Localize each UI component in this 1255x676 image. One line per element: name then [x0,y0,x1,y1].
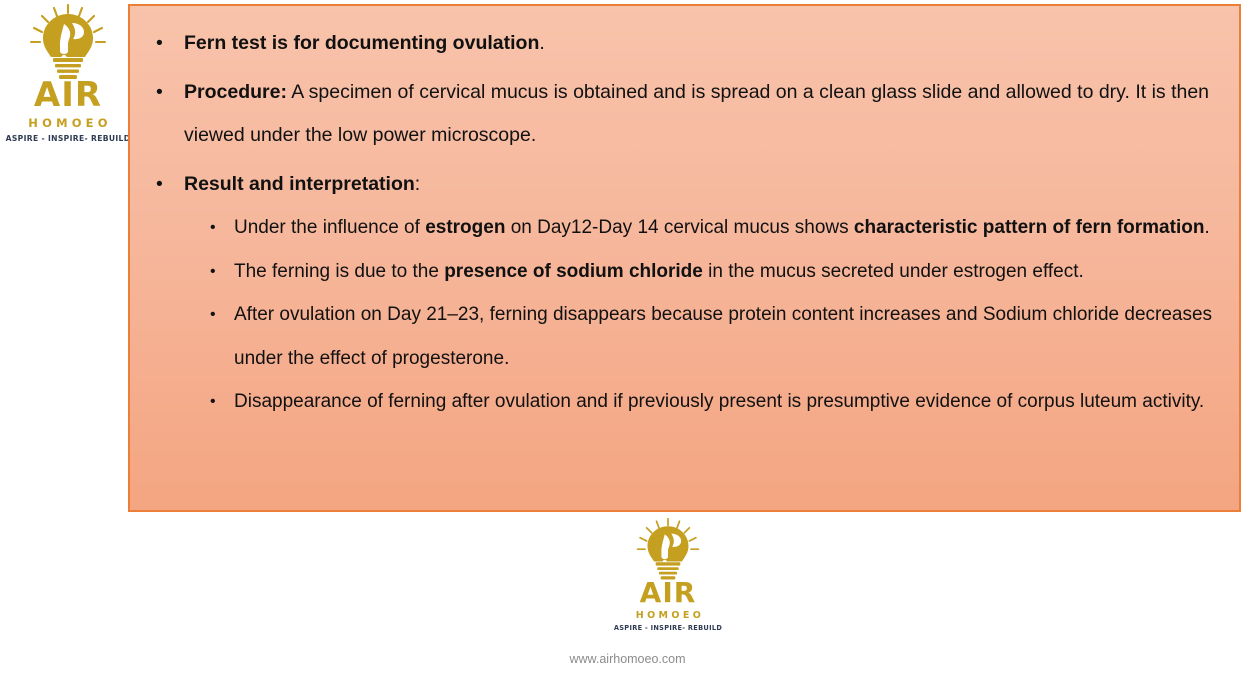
bullet-text: Procedure: A specimen of cervical mucus … [184,81,1209,146]
bullet-dot-icon: • [210,380,216,424]
bullet-text-plain: : [415,173,420,195]
bullet-text-bold: Result and interpretation [184,173,415,195]
bullet-text: The ferning is due to the presence of so… [234,261,1084,282]
bullet-dot-icon: • [156,22,163,65]
bullet-dot-icon: • [210,293,216,337]
brand-tagline: ASPIRE - INSPIRE- REBUILD [6,134,131,143]
brand-wordmark: AIR [640,579,697,607]
bullet-item: •Procedure: A specimen of cervical mucus… [144,71,1221,157]
bullet-dot-icon: • [156,71,163,114]
sub-bullet-item: •Under the influence of estrogen on Day1… [184,206,1221,250]
brand-tagline: ASPIRE - INSPIRE- REBUILD [614,624,722,632]
bullet-text-plain: . [539,32,544,54]
brand-subtitle: HOMOEO [636,610,705,621]
bullet-text: Fern test is for documenting ovulation. [184,32,545,54]
bullet-text-bold: Procedure: [184,81,287,103]
bullet-text: Under the influence of estrogen on Day12… [234,217,1210,238]
footer-website-url: www.airhomoeo.com [0,652,1255,666]
bullet-dot-icon: • [210,206,216,250]
sub-bullet-item: •Disappearance of ferning after ovulatio… [184,380,1221,424]
bullet-list: •Fern test is for documenting ovulation.… [144,22,1221,424]
bullet-text-plain: The ferning is due to the [234,261,444,282]
bullet-text-plain: A specimen of cervical mucus is obtained… [184,81,1209,146]
brand-subtitle: HOMOEO [28,116,111,130]
sub-bullet-item: •After ovulation on Day 21–23, ferning d… [184,293,1221,380]
bullet-text-plain: . [1204,217,1209,238]
bullet-text-bold: estrogen [425,217,505,238]
bullet-text-bold: Fern test is for documenting ovulation [184,32,539,54]
bullet-text-plain: in the mucus secreted under estrogen eff… [703,261,1084,282]
bullet-item: •Result and interpretation:•Under the in… [144,163,1221,424]
sub-bullet-item: •The ferning is due to the presence of s… [184,250,1221,294]
bullet-text: Result and interpretation: [184,173,420,195]
sub-bullet-list: •Under the influence of estrogen on Day1… [184,206,1221,424]
bullet-text-plain: After ovulation on Day 21–23, ferning di… [234,304,1212,369]
lightbulb-icon [631,518,705,582]
bullet-text-plain: Disappearance of ferning after ovulation… [234,391,1204,412]
bullet-text-plain: on Day12-Day 14 cervical mucus shows [505,217,853,238]
bullet-dot-icon: • [156,163,163,206]
brand-logo-footer: AIR HOMOEO ASPIRE - INSPIRE- REBUILD [604,518,732,630]
bullet-text-bold: presence of sodium chloride [444,261,703,282]
bullet-text-bold: characteristic pattern of fern formation [854,217,1205,238]
lightbulb-icon [23,4,113,82]
bullet-text: After ovulation on Day 21–23, ferning di… [234,304,1212,369]
bullet-item: •Fern test is for documenting ovulation. [144,22,1221,65]
brand-wordmark: AIR [34,78,102,112]
content-panel: •Fern test is for documenting ovulation.… [128,4,1241,512]
bullet-dot-icon: • [210,250,216,294]
brand-logo-top: AIR HOMOEO ASPIRE - INSPIRE- REBUILD [8,4,128,136]
bullet-text: Disappearance of ferning after ovulation… [234,391,1204,412]
bullet-text-plain: Under the influence of [234,217,425,238]
